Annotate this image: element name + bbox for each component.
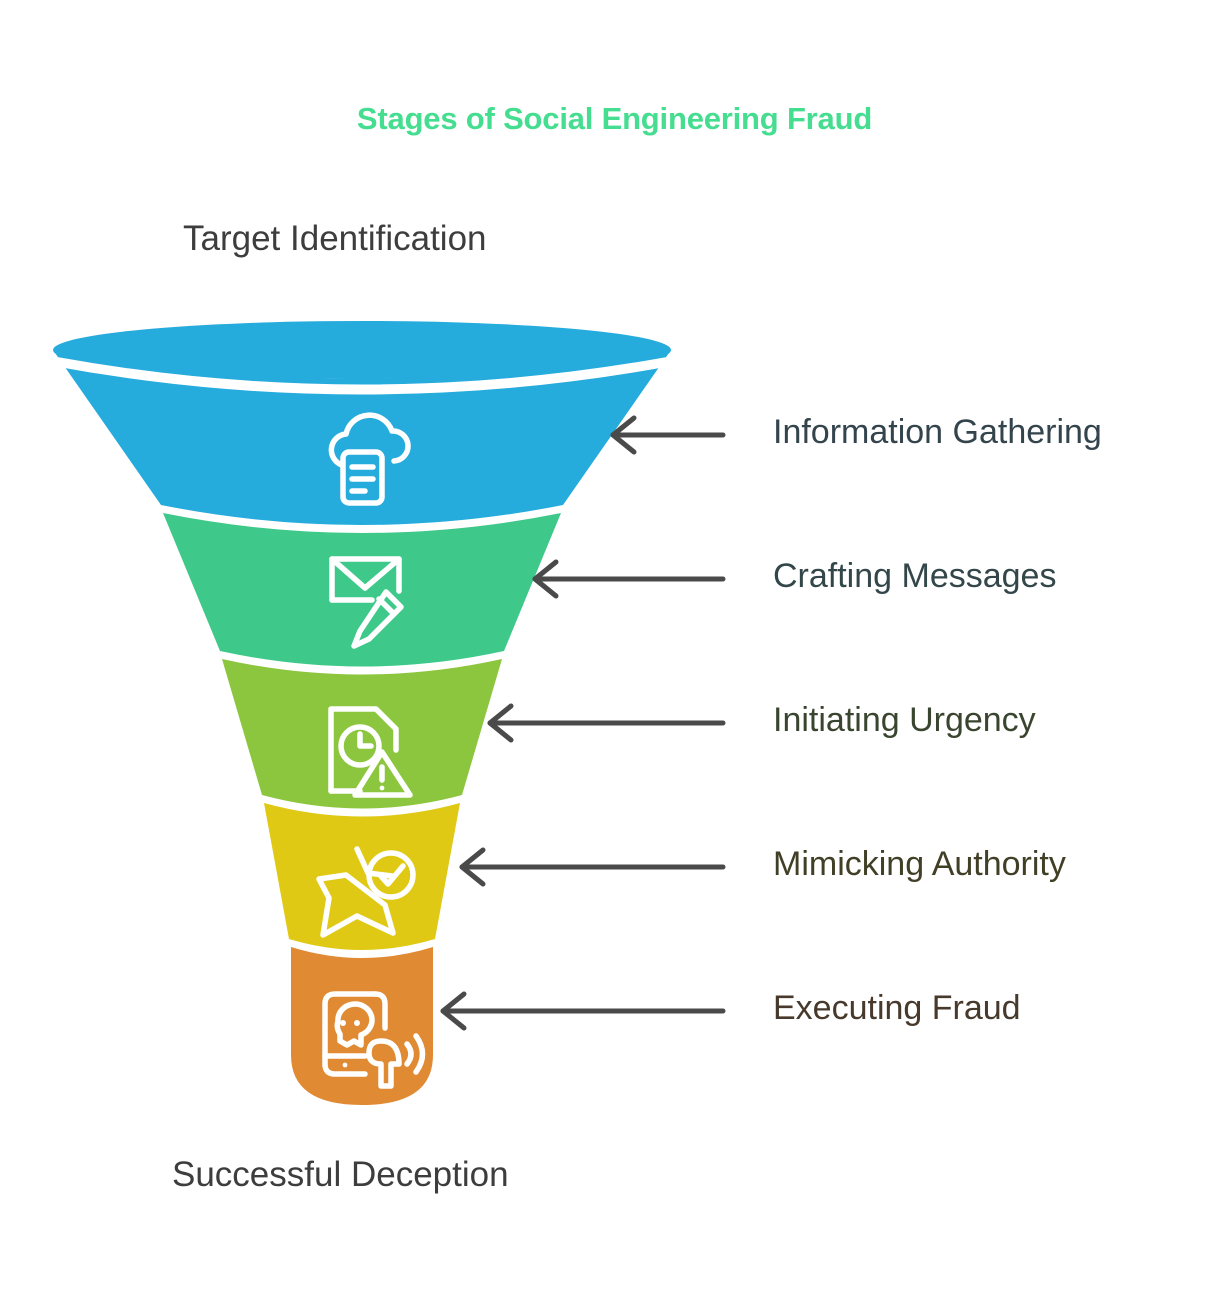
stage-label-information-gathering[interactable]: Information Gathering (773, 415, 1102, 449)
connector-arrow-mimicking-authority (462, 850, 723, 884)
funnel-segment-initiating-urgency[interactable] (222, 659, 502, 809)
stage-label-initiating-urgency[interactable]: Initiating Urgency (773, 703, 1036, 737)
funnel-diagram-canvas: Stages of Social Engineering Fraud (0, 0, 1229, 1300)
funnel-bottom-cap-label: Successful Deception (172, 1157, 509, 1192)
funnel-top-cap-label: Target Identification (183, 221, 487, 256)
funnel-graphic (0, 0, 1229, 1300)
stage-label-crafting-messages[interactable]: Crafting Messages (773, 559, 1056, 593)
segment-4-body (264, 803, 460, 950)
connector-arrow-crafting-messages (535, 562, 723, 596)
funnel-segment-mimicking-authority[interactable] (264, 803, 460, 950)
funnel-segment-crafting-messages[interactable] (163, 513, 561, 667)
stage-label-executing-fraud[interactable]: Executing Fraud (773, 991, 1021, 1025)
stage-label-mimicking-authority[interactable]: Mimicking Authority (773, 847, 1066, 881)
connector-arrow-information-gathering (613, 418, 723, 452)
connector-arrow-initiating-urgency (490, 706, 723, 740)
connector-arrow-executing-fraud (443, 994, 723, 1028)
segment-5-body (291, 947, 433, 1105)
funnel-segment-executing-fraud[interactable] (291, 947, 433, 1105)
funnel-segment-information-gathering[interactable] (53, 321, 671, 525)
funnel-top-rim (53, 321, 671, 379)
